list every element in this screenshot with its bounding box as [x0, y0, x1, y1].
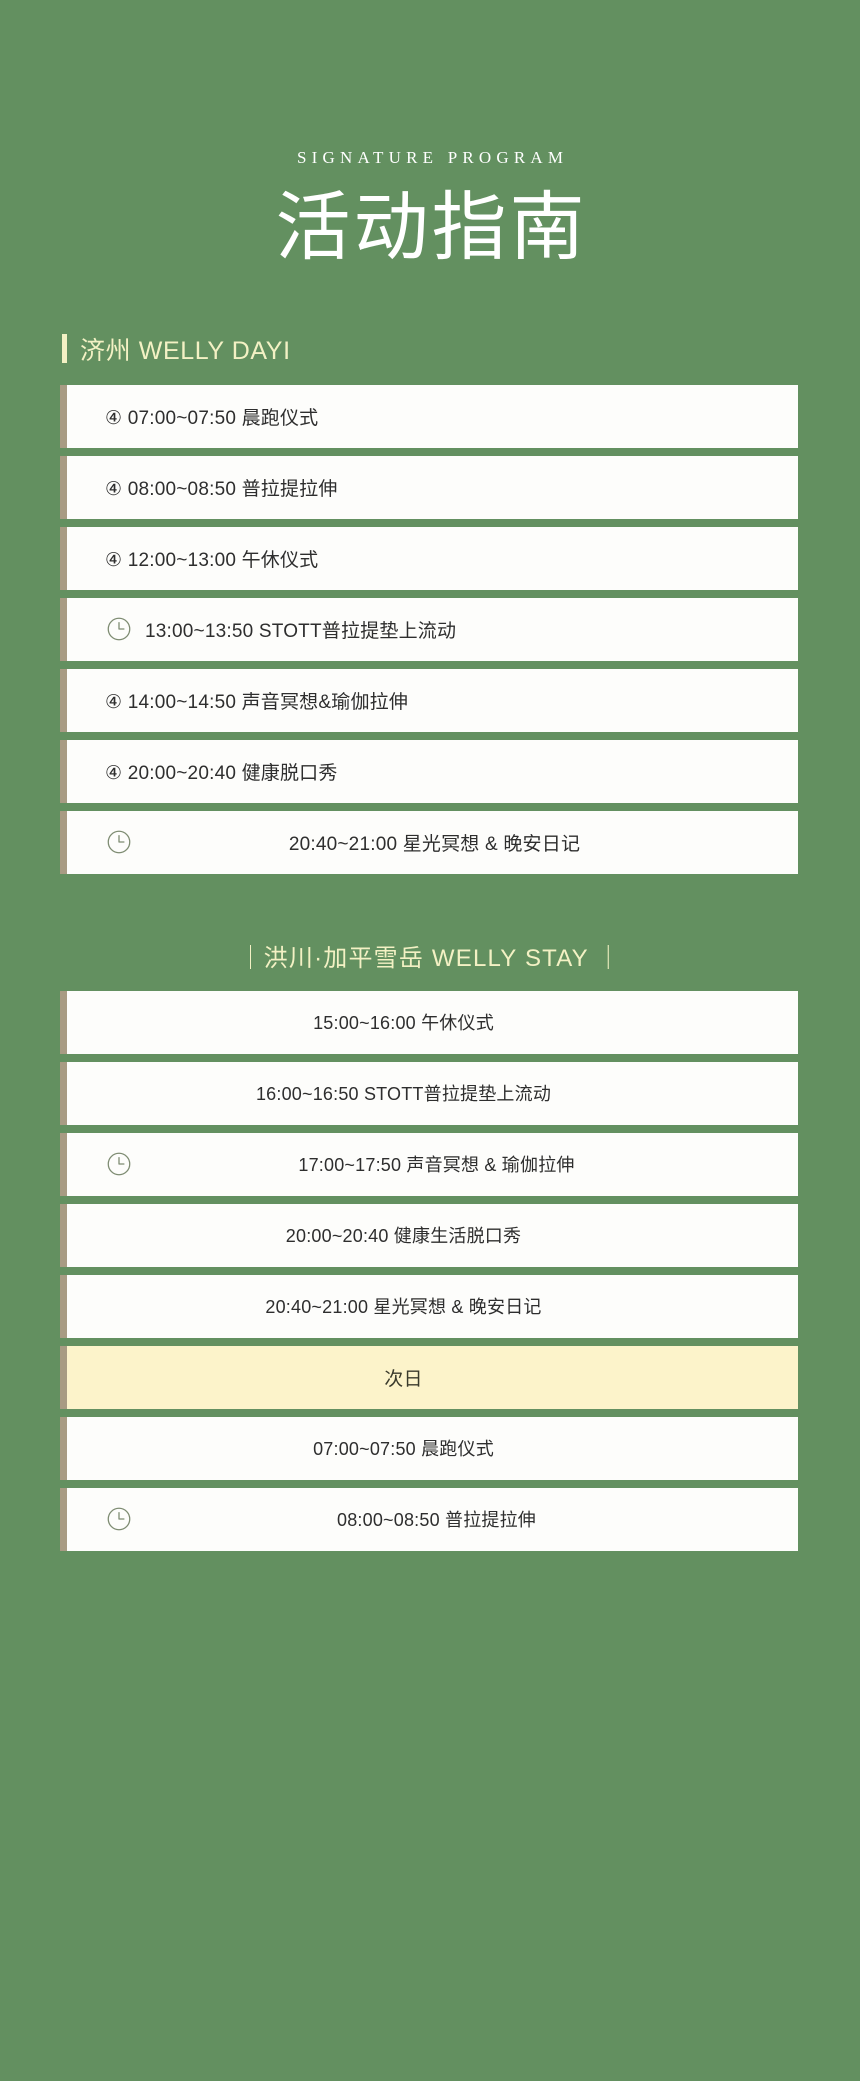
page-title: 活动指南	[0, 190, 860, 269]
page-header: SIGNATURE PROGRAM 活动指南	[0, 0, 860, 269]
schedule-row[interactable]: ④ 20:00~20:40 健康脱口秀	[60, 740, 798, 803]
schedule-row-inner: ④ 08:00~08:50 普拉提拉伸	[67, 456, 798, 519]
schedule-row-label: ④ 07:00~07:50 晨跑仪式	[67, 403, 318, 430]
schedule-row-label: ④ 14:00~14:50 声音冥想&瑜伽拉伸	[67, 687, 408, 714]
schedule-row[interactable]: 08:00~08:50 普拉提拉伸	[60, 1488, 798, 1551]
section-accent-bar	[62, 334, 67, 363]
schedule-row-inner: 13:00~13:50 STOTT普拉提垫上流动	[67, 598, 798, 661]
schedule-row-inner: 17:00~17:50 声音冥想 & 瑜伽拉伸	[67, 1133, 798, 1196]
schedule-row[interactable]: 07:00~07:50 晨跑仪式	[60, 1417, 798, 1480]
schedule-row-inner: 16:00~16:50 STOTT普拉提垫上流动	[67, 1062, 798, 1125]
schedule-row[interactable]: 20:40~21:00 星光冥想 & 晚安日记	[60, 1275, 798, 1338]
schedule-row[interactable]: 20:00~20:40 健康生活脱口秀	[60, 1204, 798, 1267]
section-title-jeju: 济州 WELLY DAYI	[80, 331, 291, 367]
schedule-row-label: 07:00~07:50 晨跑仪式	[67, 1435, 798, 1461]
schedule-list-jeju: ④ 07:00~07:50 晨跑仪式④ 08:00~08:50 普拉提拉伸④ 1…	[0, 385, 860, 874]
schedule-row-label: 15:00~16:00 午休仪式	[67, 1009, 798, 1035]
clock-icon	[105, 615, 133, 643]
schedule-row[interactable]: 16:00~16:50 STOTT普拉提垫上流动	[60, 1062, 798, 1125]
section-welly-stay: ｜洪川·加平雪岳 WELLY STAY ｜ 15:00~16:00 午休仪式16…	[0, 938, 860, 1551]
schedule-row[interactable]: 17:00~17:50 声音冥想 & 瑜伽拉伸	[60, 1133, 798, 1196]
schedule-row-label: 13:00~13:50 STOTT普拉提垫上流动	[133, 616, 456, 643]
schedule-row-label: 08:00~08:50 普拉提拉伸	[133, 1506, 798, 1532]
program-guide-page: SIGNATURE PROGRAM 活动指南 济州 WELLY DAYI ④ 0…	[0, 0, 860, 2081]
section-jeju-welly-dayi: 济州 WELLY DAYI ④ 07:00~07:50 晨跑仪式④ 08:00~…	[0, 331, 860, 874]
schedule-row[interactable]: ④ 07:00~07:50 晨跑仪式	[60, 385, 798, 448]
schedule-row-label: 16:00~16:50 STOTT普拉提垫上流动	[67, 1080, 798, 1106]
section-title-welly-stay: ｜洪川·加平雪岳 WELLY STAY ｜	[238, 945, 621, 972]
schedule-row-inner: 20:00~20:40 健康生活脱口秀	[67, 1204, 798, 1267]
schedule-row-inner: ④ 12:00~13:00 午休仪式	[67, 527, 798, 590]
schedule-row-inner: 次日	[67, 1346, 798, 1409]
schedule-row-label: ④ 20:00~20:40 健康脱口秀	[67, 758, 338, 785]
clock-icon	[105, 1150, 133, 1178]
schedule-row-inner: ④ 14:00~14:50 声音冥想&瑜伽拉伸	[67, 669, 798, 732]
schedule-row[interactable]: ④ 08:00~08:50 普拉提拉伸	[60, 456, 798, 519]
schedule-row-label: 20:00~20:40 健康生活脱口秀	[67, 1222, 798, 1248]
schedule-row[interactable]: ④ 12:00~13:00 午休仪式	[60, 527, 798, 590]
schedule-row[interactable]: 20:40~21:00 星光冥想 & 晚安日记	[60, 811, 798, 874]
schedule-row-label: 次日	[67, 1364, 798, 1391]
schedule-row-inner: 08:00~08:50 普拉提拉伸	[67, 1488, 798, 1551]
schedule-row[interactable]: 13:00~13:50 STOTT普拉提垫上流动	[60, 598, 798, 661]
schedule-row[interactable]: ④ 14:00~14:50 声音冥想&瑜伽拉伸	[60, 669, 798, 732]
schedule-row-inner: 20:40~21:00 星光冥想 & 晚安日记	[67, 1275, 798, 1338]
schedule-row[interactable]: 15:00~16:00 午休仪式	[60, 991, 798, 1054]
schedule-row-label: 20:40~21:00 星光冥想 & 晚安日记	[67, 1293, 798, 1319]
schedule-row-inner: ④ 07:00~07:50 晨跑仪式	[67, 385, 798, 448]
schedule-row-label: 17:00~17:50 声音冥想 & 瑜伽拉伸	[133, 1151, 798, 1177]
section-header-jeju: 济州 WELLY DAYI	[0, 331, 860, 367]
schedule-row-label: 20:40~21:00 星光冥想 & 晚安日记	[133, 829, 798, 856]
schedule-row-inner: 07:00~07:50 晨跑仪式	[67, 1417, 798, 1480]
clock-icon	[105, 1505, 133, 1533]
schedule-row-label: ④ 12:00~13:00 午休仪式	[67, 545, 318, 572]
eyebrow-label: SIGNATURE PROGRAM	[0, 148, 860, 168]
schedule-row-inner: 15:00~16:00 午休仪式	[67, 991, 798, 1054]
section-header-welly-stay: ｜洪川·加平雪岳 WELLY STAY ｜	[0, 938, 860, 973]
schedule-row-label: ④ 08:00~08:50 普拉提拉伸	[67, 474, 338, 501]
schedule-row-inner: ④ 20:00~20:40 健康脱口秀	[67, 740, 798, 803]
schedule-row-divider[interactable]: 次日	[60, 1346, 798, 1409]
clock-icon	[105, 828, 133, 856]
schedule-list-welly-stay: 15:00~16:00 午休仪式16:00~16:50 STOTT普拉提垫上流动…	[0, 991, 860, 1551]
schedule-row-inner: 20:40~21:00 星光冥想 & 晚安日记	[67, 811, 798, 874]
